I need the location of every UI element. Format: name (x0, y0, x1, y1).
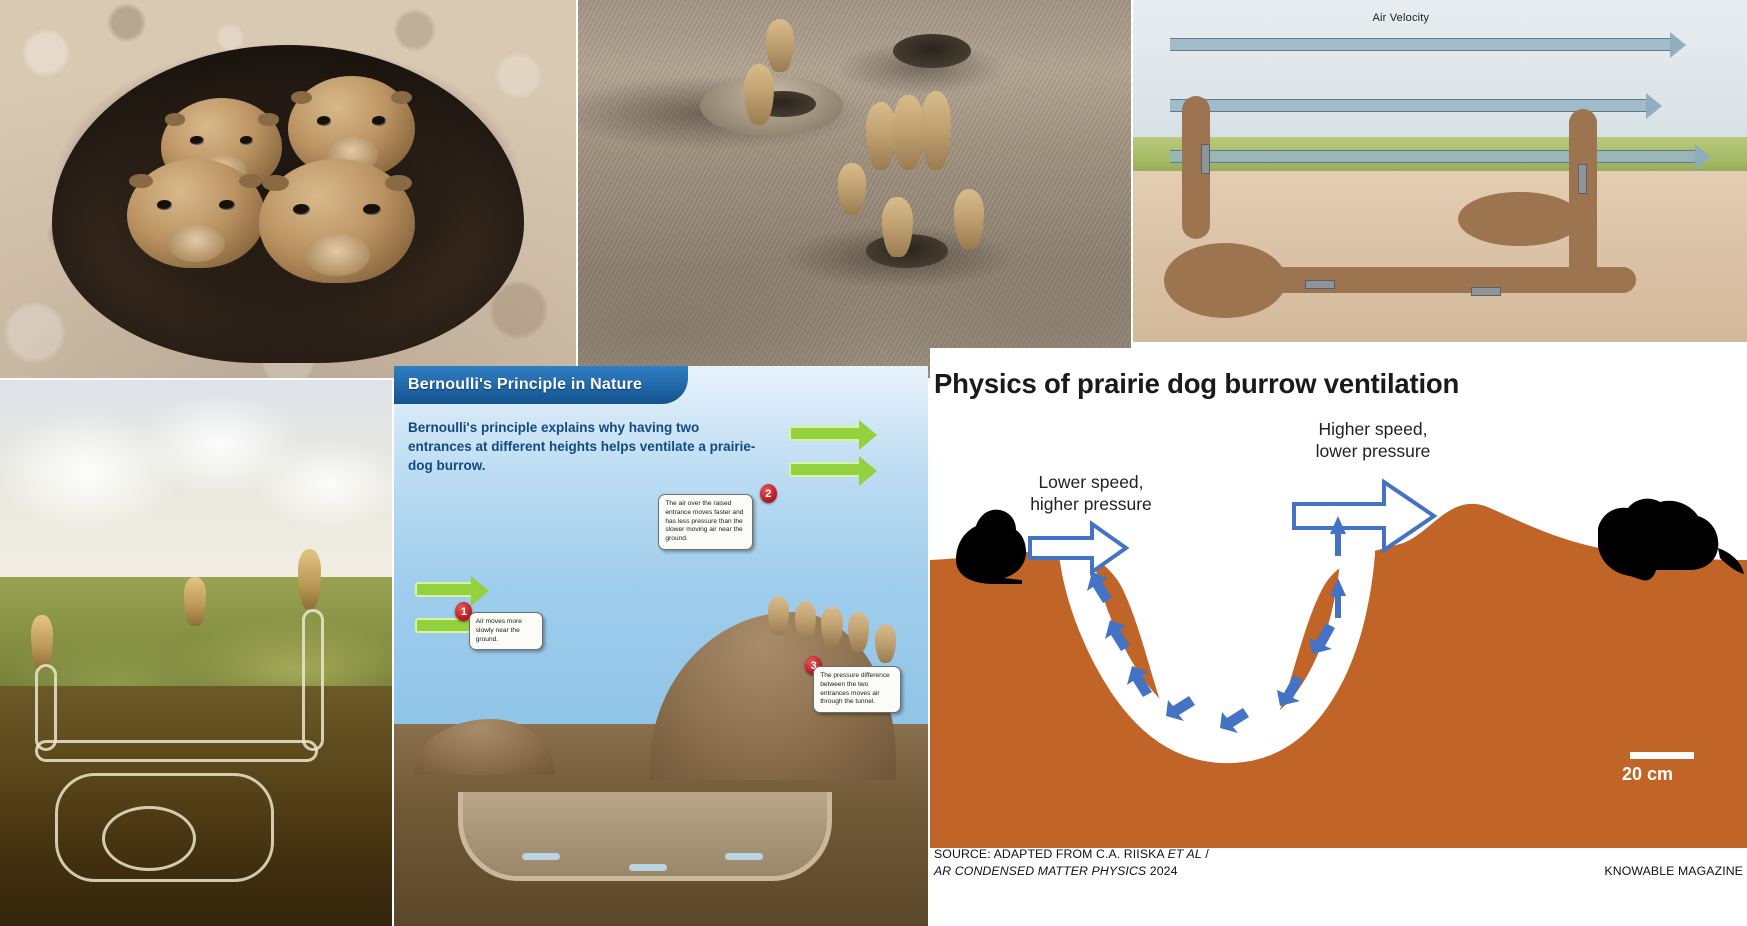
prairie-dog-standing (766, 19, 794, 72)
tunnel-flow-arrow-2 (629, 864, 667, 871)
wind-arrow-green-3 (415, 582, 473, 597)
callout-box-2: The air over the raised entrance moves f… (658, 494, 753, 550)
bernoulli-principle-infographic: Bernoulli's Principle in Nature Bernoull… (394, 366, 928, 926)
source-etal: ET AL (1168, 847, 1202, 861)
painted-tunnel-left-shaft (35, 664, 57, 751)
prairie-dog-photo-3 (127, 159, 265, 269)
ear-icon (165, 113, 186, 125)
ear-icon (258, 113, 279, 125)
eye-icon (240, 136, 253, 145)
bernoulli-header-banner: Bernoulli's Principle in Nature (394, 366, 688, 404)
wind-arrow-green-2 (789, 462, 861, 477)
ear-icon (291, 91, 313, 104)
prairie-dog-colony-photo (578, 0, 1131, 378)
scale-bar (1630, 752, 1694, 759)
source-line-1: SOURCE: ADAPTED FROM C.A. RIISKA ET AL / (934, 846, 1209, 863)
infographic-prairie-dog (768, 596, 789, 635)
ear-icon (129, 174, 152, 188)
source-journal: AR CONDENSED MATTER PHYSICS (934, 864, 1146, 878)
muzzle (304, 234, 369, 276)
burrow-entrance-photo (0, 0, 576, 378)
tunnel-flow-arrow-3 (725, 853, 763, 860)
air-velocity-arrow-ground (1170, 150, 1698, 163)
eye-icon (317, 116, 331, 125)
source-year: 2024 (1146, 864, 1177, 878)
infographic-prairie-dog (795, 601, 816, 640)
prairie-dog-town-painting (0, 380, 392, 926)
flow-arrow-down (1578, 164, 1587, 194)
air-velocity-arrow-top (1170, 38, 1673, 51)
burrow-tunnel-right-shaft (1569, 109, 1597, 280)
painted-tunnel-right-shaft (302, 609, 324, 751)
eye-icon (219, 200, 234, 210)
eye-icon (372, 116, 386, 125)
air-velocity-label: Air Velocity (1372, 12, 1429, 24)
painted-chamber (102, 806, 196, 872)
bernoulli-subhead: Bernoulli's principle explains why havin… (408, 418, 760, 475)
infographic-prairie-dog (875, 624, 896, 663)
source-slash: / (1202, 847, 1209, 861)
watercolor-burrow-cross-section: Air Velocity (1133, 0, 1747, 342)
sky-clouds (0, 380, 392, 598)
prairie-dog-standing (838, 163, 866, 216)
prairie-dog-standing (744, 64, 774, 124)
magazine-credit: KNOWABLE MAGAZINE (1604, 864, 1743, 878)
source-text-prefix: SOURCE: ADAPTED FROM C.A. RIISKA (934, 847, 1168, 861)
painted-prairie-dog-left (31, 615, 53, 670)
prairie-dog-standing (893, 95, 923, 171)
ear-icon (262, 175, 288, 191)
source-line-2: AR CONDENSED MATTER PHYSICS 2024 (934, 863, 1209, 880)
bernoulli-header-title: Bernoulli's Principle in Nature (394, 376, 642, 394)
flow-arrow-up (1201, 144, 1210, 174)
prairie-dog-standing (882, 197, 912, 257)
tunnel-flow-arrow-1 (522, 853, 560, 860)
callout-marker-2: 2 (760, 484, 777, 503)
painted-tunnel-main (35, 740, 317, 762)
flow-arrow-left (1305, 280, 1335, 289)
eye-icon (363, 204, 380, 215)
burrow-chamber-right (1458, 192, 1581, 247)
wind-arrow-green-1 (789, 426, 861, 441)
knowable-ventilation-diagram: Physics of prairie dog burrow ventilatio… (930, 348, 1747, 926)
callout-box-1: Air moves more slowly near the ground. (469, 612, 543, 650)
infographic-prairie-dog (848, 612, 869, 651)
burrow-hole (893, 34, 970, 68)
scale-label: 20 cm (1622, 764, 1673, 785)
callout-box-3: The pressure difference between the two … (813, 666, 901, 713)
eye-icon (293, 204, 310, 215)
painted-prairie-dog-center (184, 577, 206, 626)
prairie-dog-standing (866, 102, 896, 170)
prairie-dog-standing (921, 91, 951, 170)
flow-arrow-left-2 (1471, 287, 1501, 296)
muzzle (167, 225, 225, 262)
eye-icon (157, 200, 172, 210)
burrow-chamber-left (1164, 243, 1287, 318)
prairie-dog-photo-4 (259, 159, 415, 284)
image-collage: Air Velocity Bernoulli's Principle in Na… (0, 0, 1747, 926)
eye-icon (190, 136, 203, 145)
source-attribution: SOURCE: ADAPTED FROM C.A. RIISKA ET AL /… (934, 846, 1209, 881)
sky-region (1133, 0, 1747, 150)
ventilation-diagram-graphics (930, 348, 1747, 926)
infographic-prairie-dog (821, 607, 842, 646)
ear-icon (385, 175, 411, 191)
